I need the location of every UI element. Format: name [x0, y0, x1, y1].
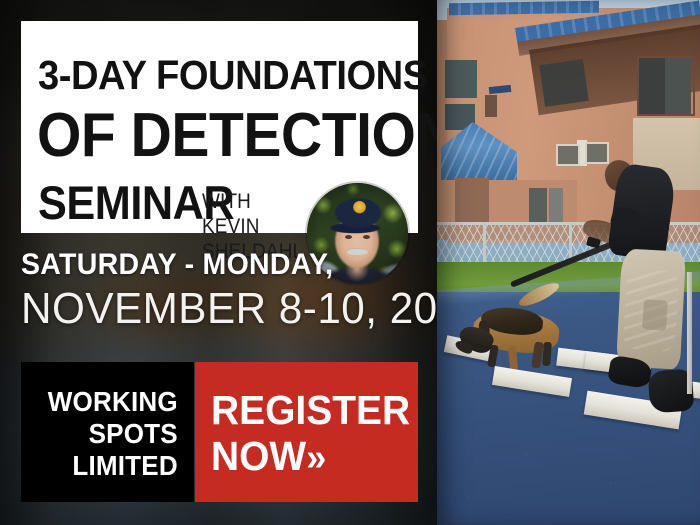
register-line-2: NOW» — [211, 433, 410, 481]
event-dates: SATURDAY - MONDAY, NOVEMBER 8-10, 2025 — [21, 250, 437, 331]
photo-window-lower-a — [529, 188, 547, 224]
photo-dog-leg — [542, 342, 552, 366]
event-days-of-week: SATURDAY - MONDAY, — [21, 250, 437, 280]
event-full-date: NOVEMBER 8-10, 2025 — [21, 287, 437, 331]
photo-ac-unit-right — [585, 142, 609, 164]
photo-door-recess — [455, 178, 489, 222]
photo-window-lower-b — [549, 188, 563, 222]
register-line-2-text: NOW — [211, 433, 306, 479]
photo-window-left-upper — [445, 60, 477, 98]
limited-line-1: WORKING — [48, 386, 178, 418]
headline-line-2: OF DETECTION — [37, 105, 437, 167]
photo-vertical-pole — [687, 272, 692, 394]
k9-training-photo — [437, 0, 700, 525]
headline-line-1: 3-DAY FOUNDATIONS — [38, 55, 428, 96]
limited-line-3: LIMITED — [48, 450, 178, 482]
register-line-1: REGISTER — [211, 387, 410, 433]
limited-line-2: SPOTS — [48, 418, 178, 450]
photo-wall-vent — [485, 95, 497, 117]
photo-ac-unit-left — [556, 144, 580, 166]
photo-window-under-eave — [539, 59, 588, 107]
double-chevron-right-icon: » — [306, 437, 325, 479]
photo-handler-cargo-pocket — [642, 299, 668, 331]
working-spots-limited-badge: WORKING SPOTS LIMITED — [21, 362, 194, 502]
register-button-label: REGISTER NOW» — [211, 387, 410, 481]
limited-badge-text: WORKING SPOTS LIMITED — [48, 386, 178, 482]
register-now-button[interactable]: REGISTER NOW» — [195, 362, 418, 502]
presenter-prefix: WITH KEVIN — [202, 189, 310, 239]
seminar-promo-banner: 3-DAY FOUNDATIONS OF DETECTION SEMINAR W… — [0, 0, 700, 525]
left-content-panel: 3-DAY FOUNDATIONS OF DETECTION SEMINAR W… — [0, 0, 437, 525]
photo-window-right-frame — [637, 56, 695, 116]
